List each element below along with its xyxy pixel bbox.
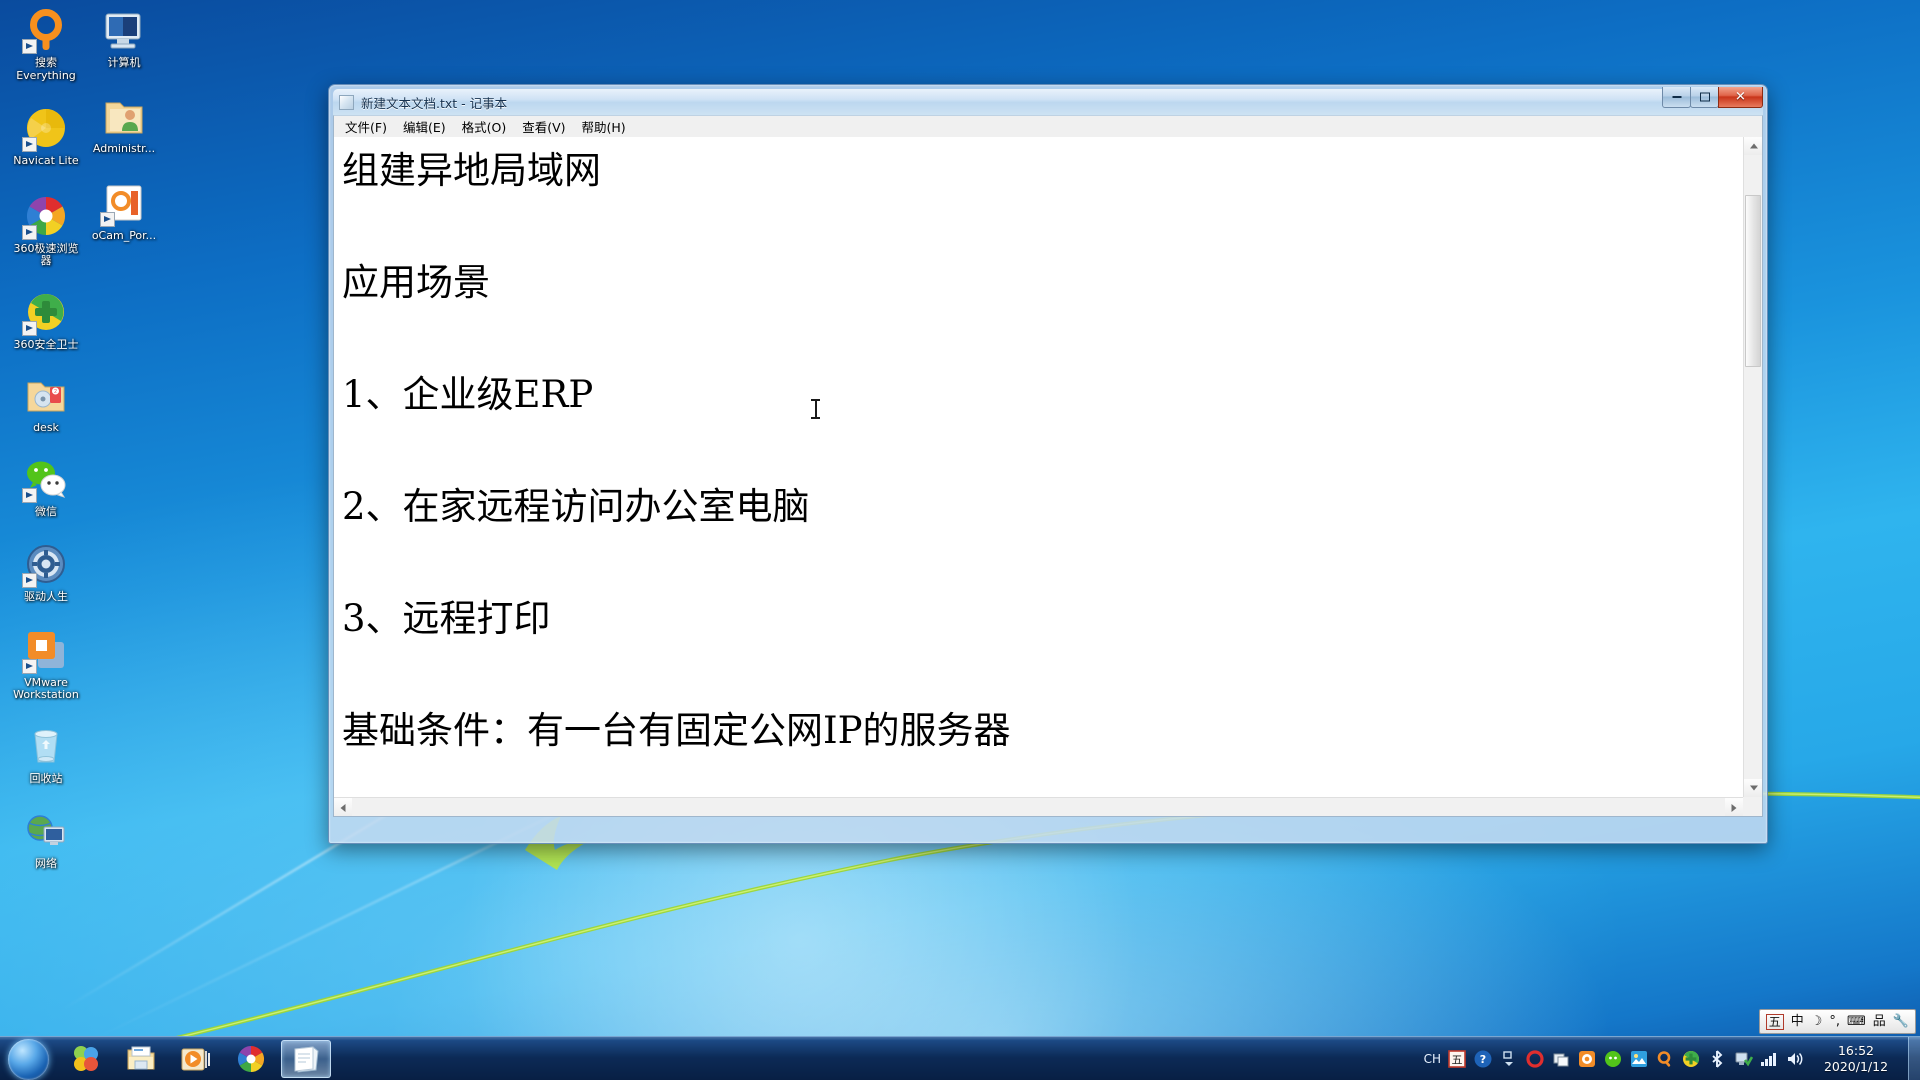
desktop-icon-label: Navicat Lite bbox=[8, 155, 84, 168]
shortcut-overlay-icon bbox=[100, 212, 115, 227]
taskbar-item-ie[interactable] bbox=[61, 1040, 111, 1078]
scrollbar-corner bbox=[1743, 797, 1762, 816]
taskbar-clock[interactable]: 16:52 2020/1/12 bbox=[1808, 1043, 1904, 1075]
document-line bbox=[342, 535, 1741, 591]
document-line: 3、远程打印 bbox=[342, 591, 1741, 647]
desktop[interactable]: 搜索Everything Navicat Lite bbox=[0, 0, 1920, 1080]
svg-text:?: ? bbox=[1480, 1053, 1486, 1066]
close-icon: ✕ bbox=[1735, 91, 1746, 104]
gear-disc-icon bbox=[22, 540, 70, 588]
horizontal-scrollbar[interactable] bbox=[334, 797, 1743, 816]
desktop-icon-label: 网络 bbox=[8, 858, 84, 871]
computer-monitor-icon bbox=[100, 6, 148, 54]
shortcut-overlay-icon bbox=[22, 225, 37, 240]
tray-ime-wubi-icon[interactable]: 五 bbox=[1447, 1049, 1467, 1069]
document-line: 组建异地局域网 bbox=[342, 143, 1741, 199]
desktop-icon-label: Administr... bbox=[86, 143, 162, 156]
scroll-up-button[interactable] bbox=[1744, 137, 1763, 155]
document-line: 应用场景 bbox=[342, 255, 1741, 311]
desktop-icon-label: oCam_Por... bbox=[86, 230, 162, 243]
menu-item-help[interactable]: 帮助(H) bbox=[574, 115, 634, 138]
desktop-icon-label: 360安全卫士 bbox=[8, 339, 84, 352]
notepad-text-content[interactable]: 组建异地局域网 应用场景 1、企业级ERP 2、在家远程访问办公室电脑 3、远程… bbox=[334, 137, 1743, 797]
taskbar-item-notepad[interactable] bbox=[281, 1040, 331, 1078]
desktop-icon-driver-life[interactable]: 驱动人生 bbox=[8, 540, 84, 604]
document-line: 1、企业级ERP bbox=[342, 367, 1741, 423]
network-globe-monitor-icon bbox=[22, 807, 70, 855]
taskbar[interactable]: CH 五 ? bbox=[0, 1036, 1920, 1080]
scroll-left-button[interactable] bbox=[334, 798, 352, 817]
ime-toolbar[interactable]: 五 中 ☽ °, ⌨ 品 🔧 bbox=[1759, 1009, 1916, 1034]
wechat-bubbles-icon bbox=[22, 455, 70, 503]
shortcut-overlay-icon bbox=[22, 659, 37, 674]
document-line bbox=[342, 423, 1741, 479]
desktop-icon-navicat-lite[interactable]: Navicat Lite bbox=[8, 104, 84, 168]
tray-signal-icon[interactable] bbox=[1759, 1049, 1779, 1069]
desktop-icon-label: 驱动人生 bbox=[8, 591, 84, 604]
recycle-bin-icon bbox=[22, 722, 70, 770]
window-title: 新建文本文档.txt - 记事本 bbox=[361, 93, 507, 112]
document-line bbox=[342, 311, 1741, 367]
desktop-icon-label: 计算机 bbox=[86, 57, 162, 70]
desktop-icon-label: desk bbox=[8, 422, 84, 435]
windows-explorer-folder-icon bbox=[125, 1043, 157, 1075]
clock-date: 2020/1/12 bbox=[1808, 1059, 1904, 1075]
minimize-button[interactable] bbox=[1662, 87, 1691, 108]
maximize-button[interactable] bbox=[1690, 87, 1719, 108]
desktop-icon-vmware-workstation[interactable]: VMwareWorkstation bbox=[8, 626, 84, 702]
desktop-icon-everything-search[interactable]: 搜索Everything bbox=[8, 6, 84, 82]
tray-search-icon[interactable] bbox=[1655, 1049, 1675, 1069]
desktop-icon-ocam-portable[interactable]: oCam_Por... bbox=[86, 179, 162, 243]
notepad-titlebar[interactable]: 新建文本文档.txt - 记事本 ✕ bbox=[333, 89, 1763, 115]
document-line bbox=[342, 647, 1741, 703]
tray-photo-app-icon[interactable] bbox=[1629, 1049, 1649, 1069]
document-line: 基础条件：有一台有固定公网IP的服务器 bbox=[342, 703, 1741, 759]
start-button[interactable] bbox=[2, 1038, 56, 1080]
ime-chinese-english-toggle[interactable]: 中 bbox=[1791, 1015, 1804, 1028]
notepad-icon bbox=[290, 1043, 322, 1075]
desktop-icon-desk-folder[interactable]: 2 desk bbox=[8, 371, 84, 435]
tray-360-guard-icon[interactable] bbox=[1577, 1049, 1597, 1069]
tray-show-hidden-icons[interactable] bbox=[1499, 1049, 1519, 1069]
desktop-icon-wechat[interactable]: 微信 bbox=[8, 455, 84, 519]
ime-mode-wubi-icon[interactable]: 五 bbox=[1766, 1014, 1784, 1030]
desktop-icon-label: 360极速浏览器 bbox=[8, 243, 84, 268]
menu-item-format[interactable]: 格式(O) bbox=[454, 115, 515, 138]
document-line bbox=[342, 199, 1741, 255]
ime-input-panel-icon[interactable]: 品 bbox=[1873, 1015, 1886, 1028]
desktop-icon-column-right: 计算机 Administr... bbox=[86, 6, 162, 257]
shortcut-overlay-icon bbox=[22, 573, 37, 588]
notepad-document-icon bbox=[339, 95, 354, 110]
tray-network-icon[interactable] bbox=[1733, 1049, 1753, 1069]
tray-volume-icon[interactable] bbox=[1785, 1049, 1805, 1069]
vertical-scroll-thumb[interactable] bbox=[1745, 195, 1761, 367]
360-chrome-pinwheel-icon bbox=[22, 192, 70, 240]
windows-logo-icon bbox=[8, 1039, 49, 1080]
desktop-icon-network[interactable]: 网络 bbox=[8, 807, 84, 871]
tray-help-icon[interactable]: ? bbox=[1473, 1049, 1493, 1069]
orange-ring-icon bbox=[22, 6, 70, 54]
navicat-icon bbox=[22, 104, 70, 152]
scroll-down-button[interactable] bbox=[1744, 779, 1763, 797]
ime-punctuation-toggle-icon[interactable]: °, bbox=[1829, 1015, 1840, 1028]
tray-language-indicator[interactable]: CH bbox=[1424, 1052, 1441, 1066]
desktop-icon-label: VMwareWorkstation bbox=[8, 677, 84, 702]
windows-media-player-icon bbox=[180, 1043, 212, 1075]
taskbar-item-browser[interactable] bbox=[226, 1040, 276, 1078]
vertical-scrollbar[interactable] bbox=[1743, 137, 1762, 797]
taskbar-item-explorer[interactable] bbox=[116, 1040, 166, 1078]
desktop-icon-column-left: 搜索Everything Navicat Lite bbox=[8, 6, 84, 885]
ime-halfwidth-toggle-icon[interactable]: ☽ bbox=[1811, 1015, 1823, 1028]
document-line: 2、在家远程访问办公室电脑 bbox=[342, 479, 1741, 535]
ime-soft-keyboard-icon[interactable]: ⌨ bbox=[1847, 1015, 1866, 1028]
tray-everything-icon[interactable] bbox=[1525, 1049, 1545, 1069]
desktop-icon-computer[interactable]: 计算机 bbox=[86, 6, 162, 70]
shortcut-overlay-icon bbox=[22, 39, 37, 54]
close-button[interactable]: ✕ bbox=[1718, 87, 1763, 108]
desktop-icon-360-safe-guard[interactable]: 360安全卫士 bbox=[8, 288, 84, 352]
vmware-squares-icon bbox=[22, 626, 70, 674]
show-desktop-button[interactable] bbox=[1908, 1037, 1920, 1080]
desktop-icon-label: 搜索Everything bbox=[8, 57, 84, 82]
scroll-right-button[interactable] bbox=[1725, 798, 1743, 817]
shortcut-overlay-icon bbox=[22, 137, 37, 152]
desktop-icon-administrator-folder[interactable]: Administr... bbox=[86, 92, 162, 156]
folder-media-icon: 2 bbox=[22, 371, 70, 419]
notepad-editor-area[interactable]: 组建异地局域网 应用场景 1、企业级ERP 2、在家远程访问办公室电脑 3、远程… bbox=[333, 137, 1763, 817]
shortcut-overlay-icon bbox=[22, 321, 37, 336]
taskbar-item-media-player[interactable] bbox=[171, 1040, 221, 1078]
tray-360-plus-icon[interactable] bbox=[1681, 1049, 1701, 1069]
desktop-icon-label: 回收站 bbox=[8, 773, 84, 786]
menu-item-view[interactable]: 查看(V) bbox=[514, 115, 573, 138]
360-chrome-pinwheel-icon bbox=[235, 1043, 267, 1075]
window-controls: ✕ bbox=[1663, 87, 1763, 109]
tray-bluetooth-icon[interactable] bbox=[1707, 1049, 1727, 1069]
desktop-icon-recycle-bin[interactable]: 回收站 bbox=[8, 722, 84, 786]
360-shield-plus-icon bbox=[22, 288, 70, 336]
notepad-menubar[interactable]: 文件(F) 编辑(E) 格式(O) 查看(V) 帮助(H) bbox=[333, 115, 1763, 137]
internet-explorer-balls-icon bbox=[70, 1043, 102, 1075]
tray-wechat-icon[interactable] bbox=[1603, 1049, 1623, 1069]
desktop-icon-label: 微信 bbox=[8, 506, 84, 519]
desktop-icon-360-browser[interactable]: 360极速浏览器 bbox=[8, 192, 84, 268]
menu-item-file[interactable]: 文件(F) bbox=[337, 115, 395, 138]
user-folder-icon bbox=[100, 92, 148, 140]
svg-text:2: 2 bbox=[54, 389, 57, 395]
system-tray[interactable]: CH 五 ? bbox=[1421, 1037, 1920, 1080]
tray-window-stack-icon[interactable] bbox=[1551, 1049, 1571, 1069]
ime-settings-wrench-icon[interactable]: 🔧 bbox=[1893, 1015, 1909, 1028]
clock-time: 16:52 bbox=[1808, 1043, 1904, 1059]
menu-item-edit[interactable]: 编辑(E) bbox=[395, 115, 454, 138]
ocam-recorder-icon bbox=[100, 179, 148, 227]
shortcut-overlay-icon bbox=[22, 488, 37, 503]
notepad-window[interactable]: 新建文本文档.txt - 记事本 ✕ 文件(F) 编辑(E) 格式(O) 查看(… bbox=[328, 84, 1768, 844]
svg-text:五: 五 bbox=[1452, 1054, 1463, 1067]
